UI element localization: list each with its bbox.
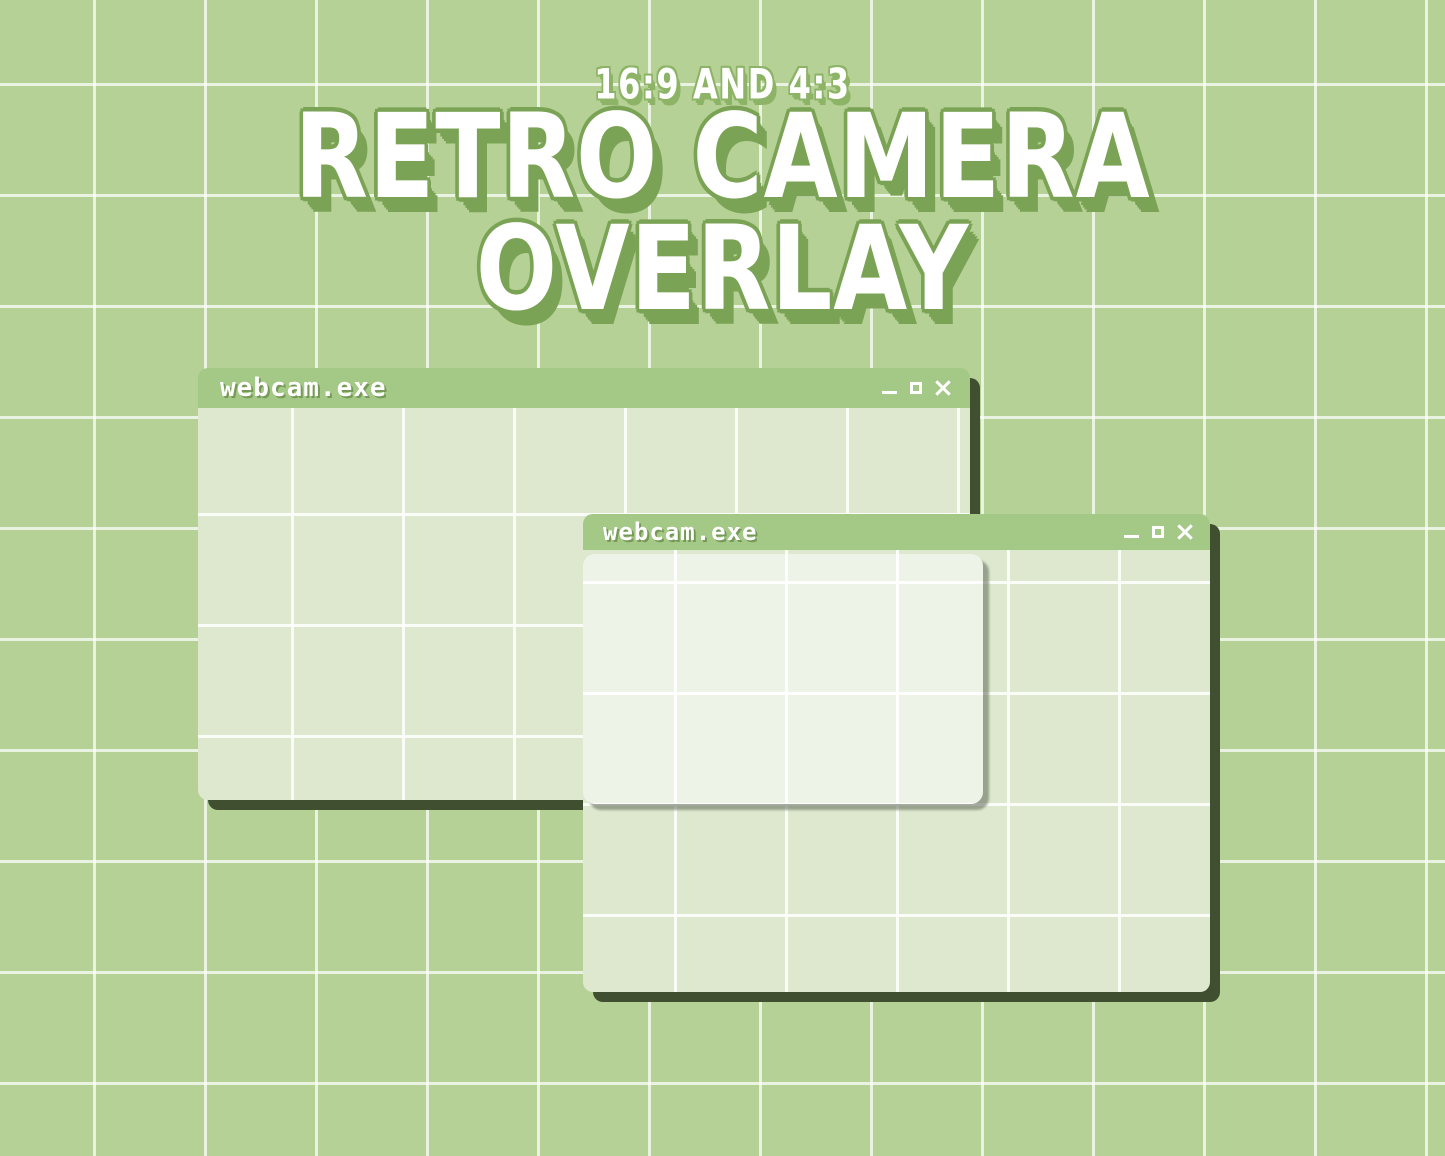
poster-title: RETRO CAMERA OVERLAY xyxy=(58,102,1387,326)
window-titlebar[interactable]: webcam.exe xyxy=(583,514,1210,550)
panel-surface xyxy=(583,554,983,804)
poster-canvas: 16:9 AND 4:3 RETRO CAMERA OVERLAY webcam… xyxy=(0,0,1445,1156)
camera-inner-panel xyxy=(583,554,983,804)
minimize-icon[interactable] xyxy=(1124,535,1139,538)
minimize-icon[interactable] xyxy=(882,391,897,394)
window-controls xyxy=(1124,524,1193,540)
window-title-label: webcam.exe xyxy=(220,373,387,403)
close-icon[interactable] xyxy=(935,380,951,396)
heading-block: 16:9 AND 4:3 RETRO CAMERA OVERLAY xyxy=(0,62,1445,314)
close-icon[interactable] xyxy=(1177,524,1193,540)
window-controls xyxy=(882,380,951,396)
window-title-label: webcam.exe xyxy=(603,518,758,546)
maximize-icon[interactable] xyxy=(1152,526,1164,538)
window-titlebar[interactable]: webcam.exe xyxy=(198,368,970,408)
maximize-icon[interactable] xyxy=(910,382,922,394)
